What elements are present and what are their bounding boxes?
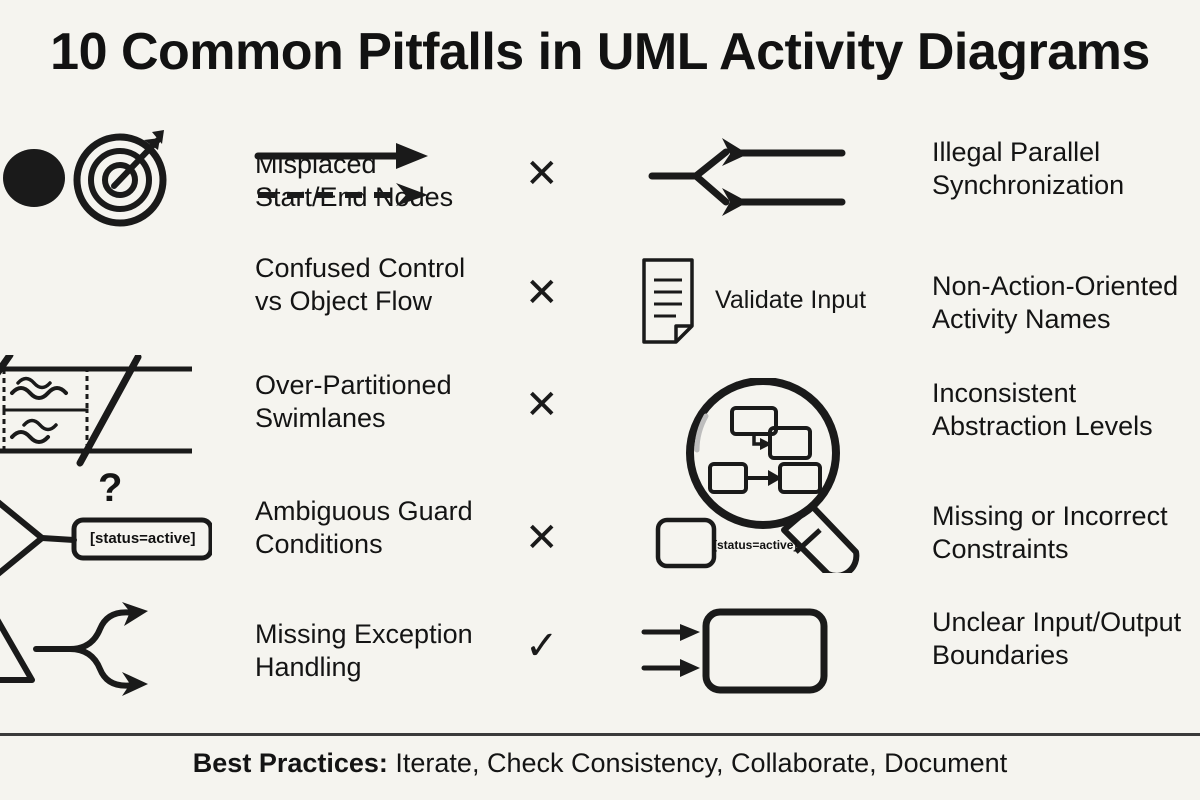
constraint-guard-label: [status=active] xyxy=(713,538,797,552)
start-end-node-icon xyxy=(0,126,212,244)
pitfall-row-3: Over-Partitioned Swimlanes xyxy=(0,355,522,473)
pitfall-row-10: ✓ Unclear Input/Output Boundaries xyxy=(525,596,1200,714)
guard-condition-label: [status=active] xyxy=(90,530,195,547)
flow-arrows-graphic xyxy=(250,140,450,225)
cross-mark-icon-8: ✕ xyxy=(525,385,559,425)
pitfall-label-7-line2: Activity Names xyxy=(932,303,1111,336)
pitfall-label-7-line1: Non-Action-Oriented xyxy=(932,270,1178,303)
pitfall-label-10-line2: Boundaries xyxy=(932,639,1069,672)
control-vs-object-flow-arrows-icon xyxy=(0,248,212,366)
exception-warning-fork-icon xyxy=(0,596,212,714)
infographic-poster: 10 Common Pitfalls in UML Activity Diagr… xyxy=(0,0,1200,800)
pitfall-label-8-line2: Abstraction Levels xyxy=(932,410,1153,443)
pitfall-label-6-line2: Synchronization xyxy=(932,169,1124,202)
pitfall-label-4-line2: Conditions xyxy=(255,528,383,561)
pitfall-label-4-line1: Ambiguous Guard xyxy=(255,495,473,528)
question-mark-icon: ? xyxy=(98,466,122,511)
pitfall-label-5-line2: Handling xyxy=(255,651,362,684)
pitfall-row-5: Missing Exception Handling xyxy=(0,596,522,714)
pitfall-label-9-line2: Constraints xyxy=(932,533,1069,566)
pitfall-label-6-line1: Illegal Parallel xyxy=(932,136,1100,169)
pitfall-row-6: ✕ Illegal Parallel Synchronization xyxy=(525,126,1200,244)
pitfall-label-8-line1: Inconsistent xyxy=(932,377,1076,410)
cross-mark-icon-6: ✕ xyxy=(525,154,559,194)
pitfall-row-2: Confused Control vs Object Flow xyxy=(0,248,522,366)
page-title: 10 Common Pitfalls in UML Activity Diagr… xyxy=(0,22,1200,82)
cross-mark-icon-9: ✕ xyxy=(525,518,559,558)
pitfall-label-3-line2: Swimlanes xyxy=(255,402,386,435)
pitfall-row-7: ✕ Validate Input Non-Action-Oriented Act… xyxy=(525,248,1200,366)
pitfall-label-2-line1: Confused Control xyxy=(255,252,465,285)
pitfall-label-2-line2: vs Object Flow xyxy=(255,285,432,318)
check-mark-icon-10: ✓ xyxy=(525,626,559,666)
footer-best-practices: Best Practices: Iterate, Check Consisten… xyxy=(0,748,1200,779)
pitfall-label-9-line1: Missing or Incorrect xyxy=(932,500,1168,533)
input-output-boundary-icon xyxy=(630,596,880,714)
validate-input-caption: Validate Input xyxy=(715,286,866,315)
cross-mark-icon-7: ✕ xyxy=(525,273,559,313)
pitfall-label-3-line1: Over-Partitioned xyxy=(255,369,452,402)
pitfall-row-9: ✕ [status=active] Missing or Incorrect C… xyxy=(525,490,1200,608)
best-practices-items: Iterate, Check Consistency, Collaborate,… xyxy=(388,748,1007,778)
pitfall-label-5-line1: Missing Exception xyxy=(255,618,473,651)
best-practices-label: Best Practices: xyxy=(193,748,388,778)
footer-divider xyxy=(0,733,1200,736)
swimlane-partition-icon xyxy=(0,355,212,473)
pitfall-label-10-line1: Unclear Input/Output xyxy=(932,606,1181,639)
parallel-sync-fork-icon xyxy=(630,126,880,244)
pitfall-row-4: [status=active] ? Ambiguous Guard Condit… xyxy=(0,478,522,596)
